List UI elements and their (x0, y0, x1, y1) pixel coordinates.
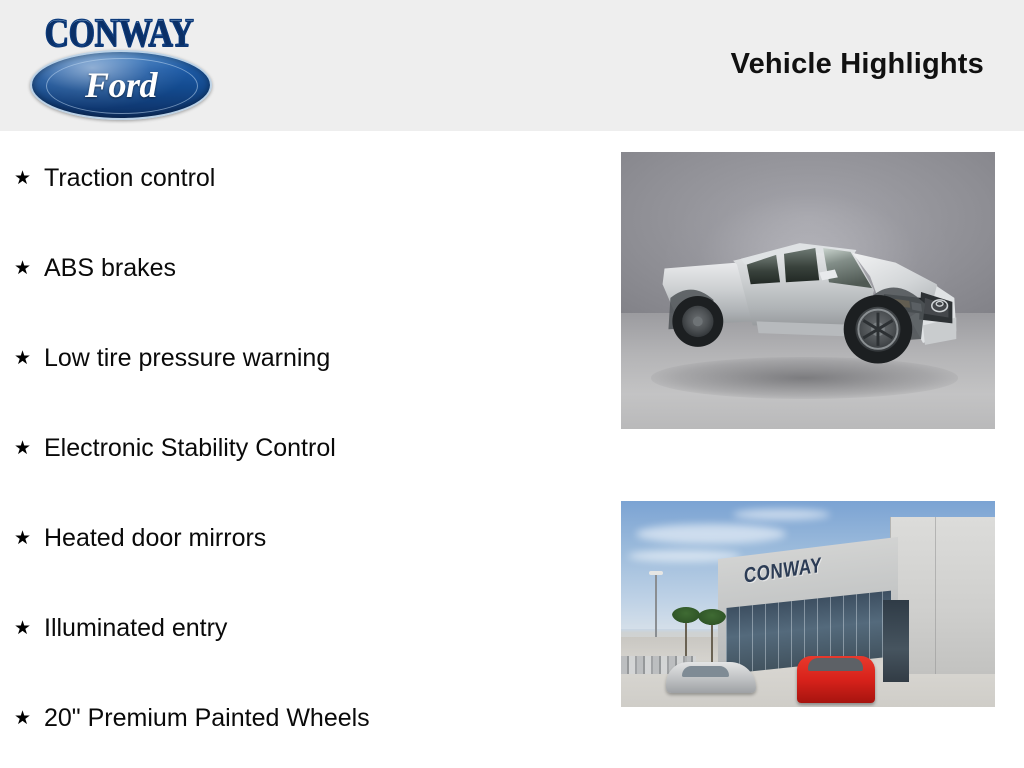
star-icon: ★ (14, 709, 44, 728)
cloud (636, 524, 786, 544)
vehicle-highlights-page: CONWAY Ford Vehicle Highlights ★ Tractio… (0, 0, 1024, 768)
star-icon: ★ (14, 169, 44, 188)
star-icon: ★ (14, 439, 44, 458)
feature-label: Low tire pressure warning (44, 343, 330, 373)
red-car (797, 656, 876, 703)
dealership-photo[interactable]: CONWAY (621, 501, 995, 707)
feature-label: Heated door mirrors (44, 523, 266, 553)
page-header: CONWAY Ford Vehicle Highlights (0, 0, 1024, 131)
list-item: ★ Heated door mirrors (14, 521, 266, 555)
silver-sedan (666, 662, 756, 693)
list-item: ★ 20" Premium Painted Wheels (14, 701, 370, 735)
list-item: ★ Low tire pressure warning (14, 341, 330, 375)
star-icon: ★ (14, 259, 44, 278)
star-icon: ★ (14, 529, 44, 548)
star-icon: ★ (14, 349, 44, 368)
feature-label: Traction control (44, 163, 215, 193)
star-icon: ★ (14, 619, 44, 638)
feature-label: 20" Premium Painted Wheels (44, 703, 370, 733)
ford-script-text: Ford (32, 52, 210, 118)
cloud (733, 509, 830, 520)
feature-label: Illuminated entry (44, 613, 227, 643)
conway-ford-logo[interactable]: CONWAY Ford (24, 14, 214, 118)
ford-oval-badge: Ford (30, 50, 212, 120)
list-item: ★ Illuminated entry (14, 611, 227, 645)
pickup-truck-illustration (643, 207, 976, 390)
palm-tree-icon (711, 618, 713, 661)
light-pole-icon (655, 575, 657, 637)
list-item: ★ ABS brakes (14, 251, 176, 285)
vehicle-features-list: ★ Traction control ★ ABS brakes ★ Low ti… (0, 131, 600, 768)
feature-label: Electronic Stability Control (44, 433, 336, 463)
vehicle-photo[interactable] (621, 152, 995, 429)
list-item: ★ Traction control (14, 161, 215, 195)
entrance-door (883, 600, 909, 682)
page-title: Vehicle Highlights (731, 48, 984, 81)
list-item: ★ Electronic Stability Control (14, 431, 336, 465)
feature-label: ABS brakes (44, 253, 176, 283)
